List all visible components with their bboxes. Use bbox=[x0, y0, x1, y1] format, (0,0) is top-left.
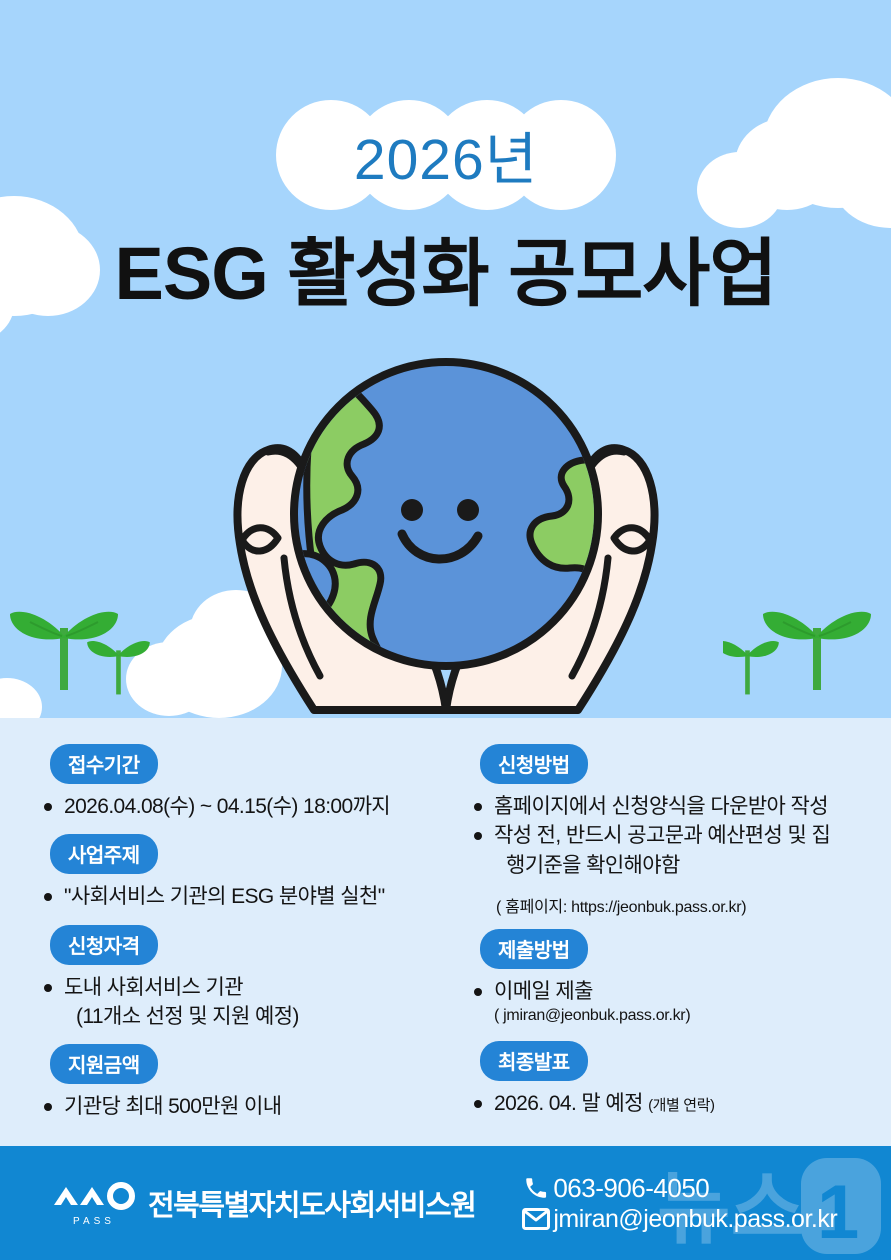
list-item: 2026. 04. 말 예정 (개별 연락) bbox=[466, 1090, 878, 1117]
info-block-submission: 제출방법 이메일 제출 ( jmiran@jeonbuk.pass.or.kr) bbox=[466, 929, 878, 1027]
section-label-badge: 신청방법 bbox=[480, 744, 588, 784]
sprouts-right-illustration bbox=[723, 586, 873, 701]
list-item-text: 이메일 제출 bbox=[494, 980, 593, 1003]
footer-contact-group: 063-906-4050 jmiran@jeonbuk.pass.or.kr bbox=[519, 1172, 837, 1235]
list-item: 홈페이지에서 신청양식을 다운받아 작성 bbox=[466, 793, 878, 820]
list-item: "사회서비스 기관의 ESG 분야별 실천" bbox=[36, 883, 456, 910]
section-label-badge: 사업주제 bbox=[50, 834, 158, 874]
organization-name: 전북특별자치도사회서비스원 bbox=[148, 1182, 475, 1224]
info-panel: 접수기간 2026.04.08(수) ~ 04.15(수) 18:00까지 사업… bbox=[0, 718, 891, 1146]
info-block-project-theme: 사업주제 "사회서비스 기관의 ESG 분야별 실천" bbox=[36, 834, 456, 910]
earth-in-hands-illustration bbox=[196, 318, 696, 718]
phone-icon bbox=[519, 1175, 553, 1201]
list-item: 2026.04.08(수) ~ 04.15(수) 18:00까지 bbox=[36, 793, 456, 820]
submission-email-note: ( jmiran@jeonbuk.pass.or.kr) bbox=[494, 1006, 878, 1027]
info-block-application-period: 접수기간 2026.04.08(수) ~ 04.15(수) 18:00까지 bbox=[36, 744, 456, 820]
info-list: 기관당 최대 500만원 이내 bbox=[36, 1093, 456, 1120]
info-list: 도내 사회서비스 기관 (11개소 선정 및 지원 예정) bbox=[36, 974, 456, 1031]
sprout-icon bbox=[763, 612, 871, 690]
section-label-badge: 최종발표 bbox=[480, 1041, 588, 1081]
list-item-continuation: (11개소 선정 및 지원 예정) bbox=[36, 1003, 456, 1030]
section-label-badge: 신청자격 bbox=[50, 925, 158, 965]
footer-content: PASS 전북특별자치도사회서비스원 063-906-4050 bbox=[0, 1146, 891, 1260]
pass-logo-wordmark: PASS bbox=[52, 1216, 136, 1227]
list-item: 기관당 최대 500만원 이내 bbox=[36, 1093, 456, 1120]
phone-row[interactable]: 063-906-4050 bbox=[519, 1173, 837, 1204]
info-block-eligibility: 신청자격 도내 사회서비스 기관 (11개소 선정 및 지원 예정) bbox=[36, 925, 456, 1031]
sprout-icon bbox=[87, 641, 150, 694]
info-column-right: 신청방법 홈페이지에서 신청양식을 다운받아 작성 작성 전, 반드시 공고문과… bbox=[466, 744, 878, 1131]
footer-bar: 뉴스 1 PASS 전북특별자치도사회서비스원 bbox=[0, 1146, 891, 1260]
email-address: jmiran@jeonbuk.pass.or.kr bbox=[553, 1205, 837, 1234]
info-column-left: 접수기간 2026.04.08(수) ~ 04.15(수) 18:00까지 사업… bbox=[36, 744, 456, 1134]
sprouts-left-illustration bbox=[8, 586, 158, 701]
section-label-badge: 지원금액 bbox=[50, 1044, 158, 1084]
list-item-text: 2026. 04. 말 예정 bbox=[494, 1092, 643, 1115]
info-list: 이메일 제출 ( jmiran@jeonbuk.pass.or.kr) bbox=[466, 978, 878, 1027]
pass-logo-icon: PASS bbox=[52, 1181, 136, 1225]
list-item: 도내 사회서비스 기관 bbox=[36, 974, 456, 1001]
sprout-icon bbox=[723, 641, 779, 694]
info-block-final-announcement: 최종발표 2026. 04. 말 예정 (개별 연락) bbox=[466, 1041, 878, 1117]
page-title: ESG 활성화 공모사업 bbox=[0, 214, 891, 321]
info-list: 2026.04.08(수) ~ 04.15(수) 18:00까지 bbox=[36, 793, 456, 820]
announcement-note: (개별 연락) bbox=[648, 1097, 715, 1114]
section-label-badge: 제출방법 bbox=[480, 929, 588, 969]
year-title: 2026년 bbox=[276, 100, 616, 210]
info-list: 홈페이지에서 신청양식을 다운받아 작성 작성 전, 반드시 공고문과 예산편성… bbox=[466, 793, 878, 879]
info-block-funding-amount: 지원금액 기관당 최대 500만원 이내 bbox=[36, 1044, 456, 1120]
info-list: "사회서비스 기관의 ESG 분야별 실천" bbox=[36, 883, 456, 910]
list-item: 이메일 제출 ( jmiran@jeonbuk.pass.or.kr) bbox=[466, 978, 878, 1027]
section-label-badge: 접수기간 bbox=[50, 744, 158, 784]
info-block-how-to-apply: 신청방법 홈페이지에서 신청양식을 다운받아 작성 작성 전, 반드시 공고문과… bbox=[466, 744, 878, 917]
email-row[interactable]: jmiran@jeonbuk.pass.or.kr bbox=[519, 1205, 837, 1234]
phone-number: 063-906-4050 bbox=[553, 1173, 709, 1204]
earth-eye-right bbox=[457, 499, 479, 521]
homepage-note: ( 홈페이지: https://jeonbuk.pass.or.kr) bbox=[466, 893, 878, 917]
envelope-icon bbox=[519, 1207, 553, 1231]
list-item-continuation: 행기준을 확인해야함 bbox=[466, 852, 878, 879]
info-list: 2026. 04. 말 예정 (개별 연락) bbox=[466, 1090, 878, 1117]
poster-root: 2026년 ESG 활성화 공모사업 bbox=[0, 0, 891, 1260]
earth-eye-left bbox=[401, 499, 423, 521]
list-item: 작성 전, 반드시 공고문과 예산편성 및 집 bbox=[466, 822, 878, 849]
